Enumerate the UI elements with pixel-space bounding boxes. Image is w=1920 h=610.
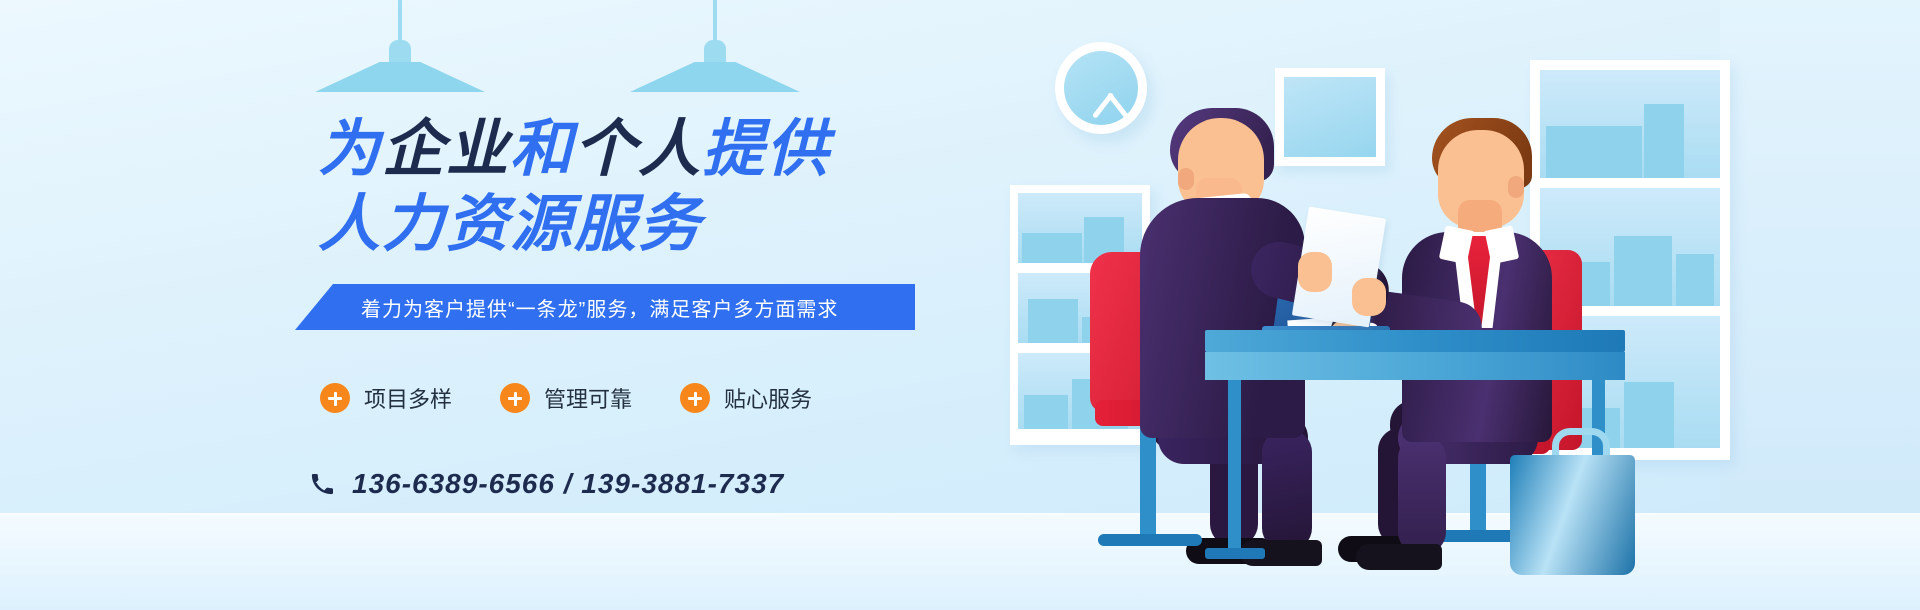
headline-line-2: 人力资源服务 <box>318 193 958 256</box>
books <box>1028 299 1078 343</box>
framed-picture <box>1275 68 1385 166</box>
person-left-hand-upper <box>1298 252 1332 292</box>
headline-seg-6: 人力资源服务 <box>318 190 702 259</box>
wall-clock-icon <box>1055 42 1147 134</box>
books <box>1624 382 1674 448</box>
person-right-shoe-front <box>1356 544 1442 570</box>
desk-edge <box>1205 352 1625 380</box>
clock-face <box>1064 51 1138 125</box>
books <box>1614 236 1672 306</box>
feature-item[interactable]: 贴心服务 <box>680 382 812 414</box>
books <box>1022 233 1082 263</box>
hero-banner: 为企业和个人提供 人力资源服务 着力为客户提供“一条龙”服务，满足客户多方面需求… <box>0 0 1920 610</box>
books <box>1644 104 1684 178</box>
headline-line-1: 为企业和个人提供 <box>318 115 830 184</box>
person-left-shin-front <box>1262 430 1312 550</box>
person-right-ear <box>1508 176 1524 198</box>
person-left-ear <box>1178 168 1194 190</box>
office-chair-left-base <box>1098 534 1202 546</box>
plus-icon <box>320 383 350 413</box>
phone-number: 136-6389-6566 / 139-3881-7337 <box>352 468 784 500</box>
headline-seg-2: 企业 <box>382 115 510 184</box>
plus-icon <box>680 383 710 413</box>
desk-top <box>1205 330 1625 352</box>
books <box>1676 254 1714 306</box>
contact-row[interactable]: 136-6389-6566 / 139-3881-7337 <box>310 468 784 500</box>
picture-canvas <box>1284 77 1376 157</box>
feature-item[interactable]: 项目多样 <box>320 382 452 414</box>
feature-label: 项目多样 <box>364 382 452 414</box>
wall-panel-right <box>1720 0 1920 545</box>
feature-list: 项目多样 管理可靠 贴心服务 <box>320 382 812 414</box>
desk-foot-left <box>1205 548 1265 559</box>
desk-leg-left <box>1228 380 1241 555</box>
feature-label: 管理可靠 <box>544 382 632 414</box>
headline-seg-5: 提供 <box>702 115 830 184</box>
person-right-shin-front <box>1398 436 1446 554</box>
headline-seg-4: 个人 <box>574 115 702 184</box>
headline-seg-1: 为 <box>318 115 382 184</box>
banner-content: 为企业和个人提供 人力资源服务 着力为客户提供“一条龙”服务，满足客户多方面需求… <box>0 0 1000 610</box>
plus-icon <box>500 383 530 413</box>
feature-item[interactable]: 管理可靠 <box>500 382 632 414</box>
subtitle-text: 着力为客户提供“一条龙”服务，满足客户多方面需求 <box>361 293 838 322</box>
books <box>1546 126 1642 178</box>
page-title: 为企业和个人提供 人力资源服务 <box>318 118 958 256</box>
person-left-hand-lower <box>1352 278 1386 316</box>
office-chair-left-stem <box>1140 424 1156 534</box>
books <box>1024 395 1068 429</box>
clock-hand-hour <box>1092 92 1114 119</box>
phone-icon <box>310 471 334 497</box>
office-chair-right-stem <box>1470 452 1486 537</box>
headline-seg-3: 和 <box>510 115 574 184</box>
shelf-cell <box>1540 70 1720 178</box>
briefcase <box>1510 455 1635 575</box>
subtitle-ribbon: 着力为客户提供“一条龙”服务，满足客户多方面需求 <box>295 284 915 330</box>
feature-label: 贴心服务 <box>724 382 812 414</box>
